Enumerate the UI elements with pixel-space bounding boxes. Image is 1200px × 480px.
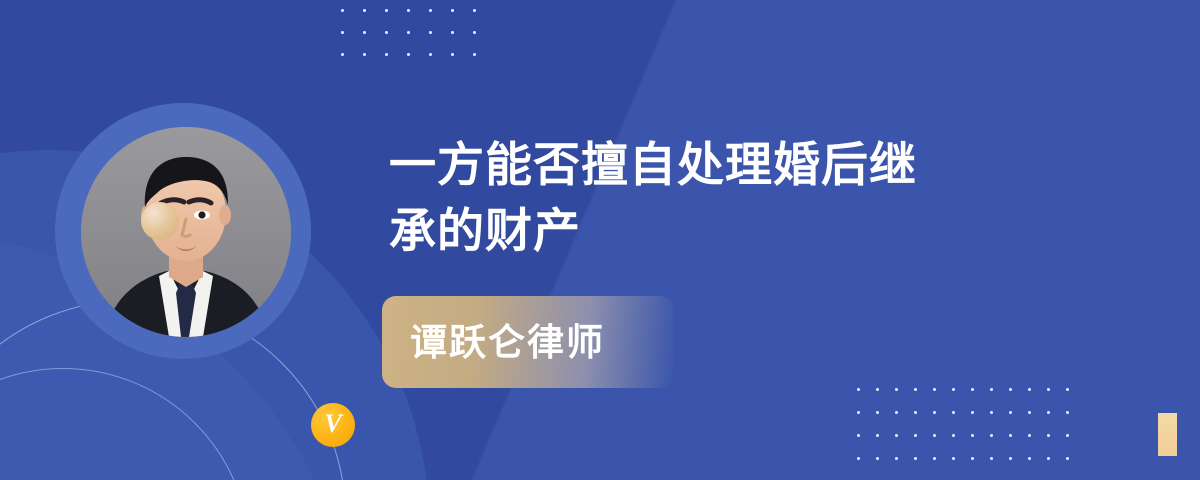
lawyer-portrait-avatar-icon	[81, 127, 291, 337]
page-title-line-2: 承的财产	[389, 198, 1179, 264]
gold-bubble	[141, 202, 179, 240]
author-name-label: 谭跃仑律师	[382, 324, 605, 361]
page-title: 一方能否擅自处理婚后继 承的财产	[389, 132, 1179, 264]
tan-accent-bar	[1158, 413, 1177, 456]
author-name-badge: 谭跃仑律师	[382, 296, 674, 388]
lawyer-article-banner: V 一方能否擅自处理婚后继 承的财产 谭跃仑律师	[0, 0, 1200, 480]
avatar: V	[55, 103, 311, 359]
verified-badge-icon: V	[311, 403, 355, 447]
page-title-line-1: 一方能否擅自处理婚后继	[389, 132, 1179, 198]
verified-badge-glyph: V	[324, 411, 341, 437]
